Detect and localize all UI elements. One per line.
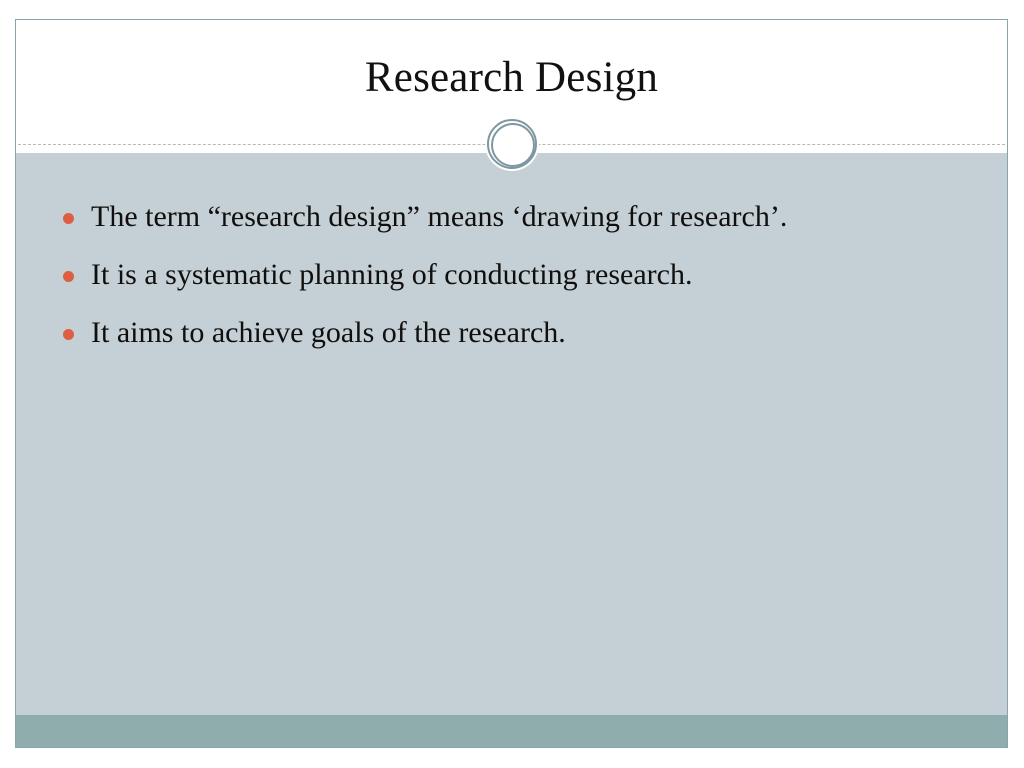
list-item-text: It is a systematic planning of conductin… bbox=[91, 250, 949, 300]
slide-body: The term “research design” means ‘drawin… bbox=[16, 153, 1007, 747]
list-item-text: It aims to achieve goals of the research… bbox=[91, 308, 949, 358]
bottom-accent-bar bbox=[16, 715, 1007, 747]
circle-ornament-icon bbox=[485, 117, 539, 171]
bullet-list: The term “research design” means ‘drawin… bbox=[49, 192, 949, 366]
list-item-text: The term “research design” means ‘drawin… bbox=[91, 192, 949, 242]
list-item: The term “research design” means ‘drawin… bbox=[49, 192, 949, 242]
bullet-dot-icon bbox=[63, 213, 74, 224]
slide: Research Design The term “research desig… bbox=[15, 19, 1008, 748]
ornament-ring-inner bbox=[491, 123, 535, 167]
page-title: Research Design bbox=[16, 53, 1007, 103]
list-item: It aims to achieve goals of the research… bbox=[49, 308, 949, 358]
list-item: It is a systematic planning of conductin… bbox=[49, 250, 949, 300]
bullet-dot-icon bbox=[63, 271, 74, 282]
bullet-dot-icon bbox=[63, 329, 74, 340]
